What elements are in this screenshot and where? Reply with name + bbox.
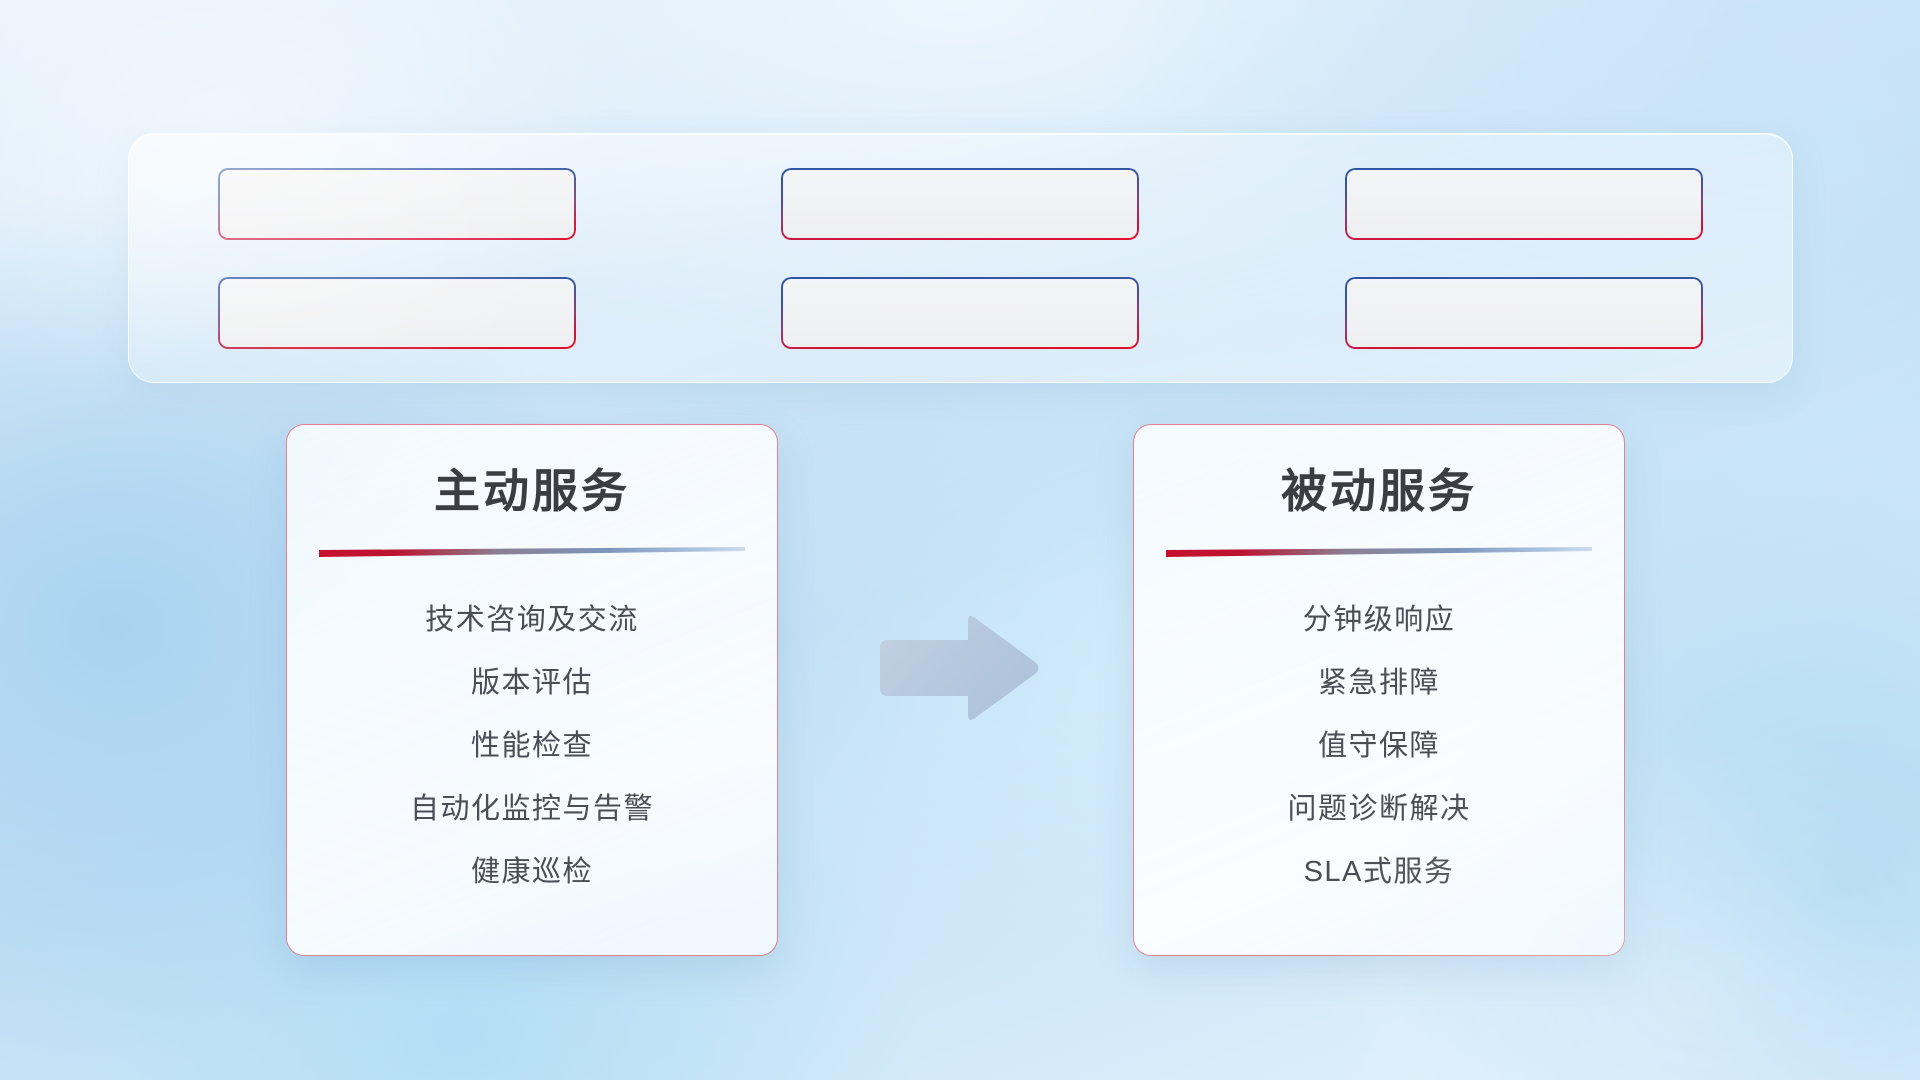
card-list-item: 问题诊断解决 (1287, 778, 1470, 841)
card-list-item: 自动化监控与告警 (410, 778, 654, 841)
card-title: 被动服务 (1281, 463, 1477, 521)
capability-pill[interactable]: 智能化性能分析 (1345, 168, 1703, 240)
card-list-item: 值守保障 (1318, 715, 1440, 778)
card-item-list: 技术咨询及交流 版本评估 性能检查 自动化监控与告警 健康巡检 (321, 567, 743, 904)
capability-pill[interactable]: 集中监控平台 (1345, 277, 1703, 349)
card-divider (319, 547, 745, 559)
capability-pill-label: 智能化性能分析 (288, 291, 505, 335)
capability-pill[interactable]: 标准化文档模板 (781, 277, 1139, 349)
card-list-item: 版本评估 (471, 652, 593, 715)
service-card-active: 主动服务 技术咨询及交流 版本评估 性能检查 (286, 424, 778, 956)
capability-panel: 自动化巡检工具 自动化性能数据采集 智能化性能分析 智能化性能分析 标准化文档模… (128, 133, 1793, 383)
arrow-right-icon (872, 612, 1042, 724)
service-card-passive: 被动服务 分钟级响应 紧急排障 值守保障 (1133, 424, 1625, 956)
capability-pill[interactable]: 自动化性能数据采集 (781, 168, 1139, 240)
capability-pill-label: 智能化性能分析 (1416, 182, 1633, 226)
capability-pill[interactable]: 智能化性能分析 (218, 277, 576, 349)
card-item-list: 分钟级响应 紧急排障 值守保障 问题诊断解决 SLA式服务 (1168, 567, 1590, 904)
card-list-item: 紧急排障 (1318, 652, 1440, 715)
capability-pill-label: 标准化文档模板 (852, 291, 1069, 335)
card-list-item: 健康巡检 (471, 841, 593, 904)
card-list-item: 分钟级响应 (1303, 589, 1456, 652)
capability-pill-label: 自动化性能数据采集 (821, 182, 1100, 226)
capability-pill-label: 集中监控平台 (1431, 291, 1617, 335)
card-title: 主动服务 (434, 463, 630, 521)
background-canvas: 自动化巡检工具 自动化性能数据采集 智能化性能分析 智能化性能分析 标准化文档模… (0, 0, 1920, 1080)
card-list-item: SLA式服务 (1304, 841, 1455, 904)
capability-pill-label: 自动化巡检工具 (288, 182, 505, 226)
capability-pill[interactable]: 自动化巡检工具 (218, 168, 576, 240)
card-divider (1166, 547, 1592, 559)
card-list-item: 技术咨询及交流 (425, 589, 639, 652)
card-list-item: 性能检查 (471, 715, 593, 778)
